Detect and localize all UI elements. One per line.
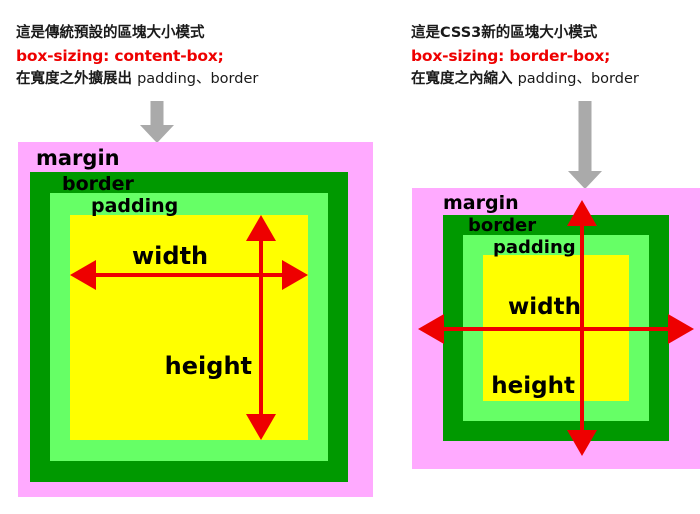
box-model-diagram-border-box: margin border padding width height <box>412 188 700 469</box>
measure-line <box>259 225 263 430</box>
caption-content-box: 這是傳統預設的區塊大小模式 box-sizing: content-box; 在… <box>16 22 258 91</box>
down-arrow-icon-left <box>140 101 174 143</box>
caption-right-code: box-sizing: border-box; <box>411 45 639 68</box>
padding-label: padding <box>91 195 178 217</box>
arrow-head <box>140 125 174 143</box>
padding-label: padding <box>493 237 576 258</box>
border-label: border <box>468 215 536 236</box>
arrowhead-down <box>246 414 276 440</box>
border-label: border <box>62 173 134 195</box>
caption-right-line3-suffix: padding、border <box>518 71 639 87</box>
height-label: height <box>165 352 252 380</box>
box-model-diagram-content-box: margin border padding width height <box>18 142 373 497</box>
caption-right-line3-prefix: 在寬度之內縮入 <box>411 71 513 87</box>
margin-label: margin <box>36 146 120 170</box>
arrowhead-down <box>567 430 597 456</box>
width-measure-arrow: width <box>418 314 694 344</box>
caption-left-line3-prefix: 在寬度之外擴展出 <box>16 71 132 87</box>
caption-border-box: 這是CSS3新的區塊大小模式 box-sizing: border-box; 在… <box>411 22 639 91</box>
arrowhead-left <box>418 314 444 344</box>
arrow-shaft <box>579 101 592 173</box>
arrowhead-up <box>246 215 276 241</box>
height-measure-arrow: height <box>246 215 276 440</box>
measure-line <box>428 327 684 331</box>
caption-right-line3: 在寬度之內縮入 padding、border <box>411 68 639 91</box>
caption-left-line3: 在寬度之外擴展出 padding、border <box>16 68 258 91</box>
measure-line <box>580 210 584 446</box>
caption-left-line1: 這是傳統預設的區塊大小模式 <box>16 22 258 45</box>
arrow-shaft <box>151 101 164 127</box>
caption-left-line3-suffix: padding、border <box>137 71 258 87</box>
height-measure-arrow: height <box>567 200 597 456</box>
arrowhead-left <box>70 260 96 290</box>
margin-label: margin <box>443 192 519 214</box>
arrowhead-up <box>567 200 597 226</box>
arrowhead-right <box>668 314 694 344</box>
arrow-head <box>568 171 602 189</box>
caption-left-code: box-sizing: content-box; <box>16 45 258 68</box>
caption-right-line1: 這是CSS3新的區塊大小模式 <box>411 22 639 45</box>
arrowhead-right <box>282 260 308 290</box>
height-label: height <box>491 373 575 399</box>
width-label: width <box>132 242 208 270</box>
down-arrow-icon-right <box>568 101 602 189</box>
